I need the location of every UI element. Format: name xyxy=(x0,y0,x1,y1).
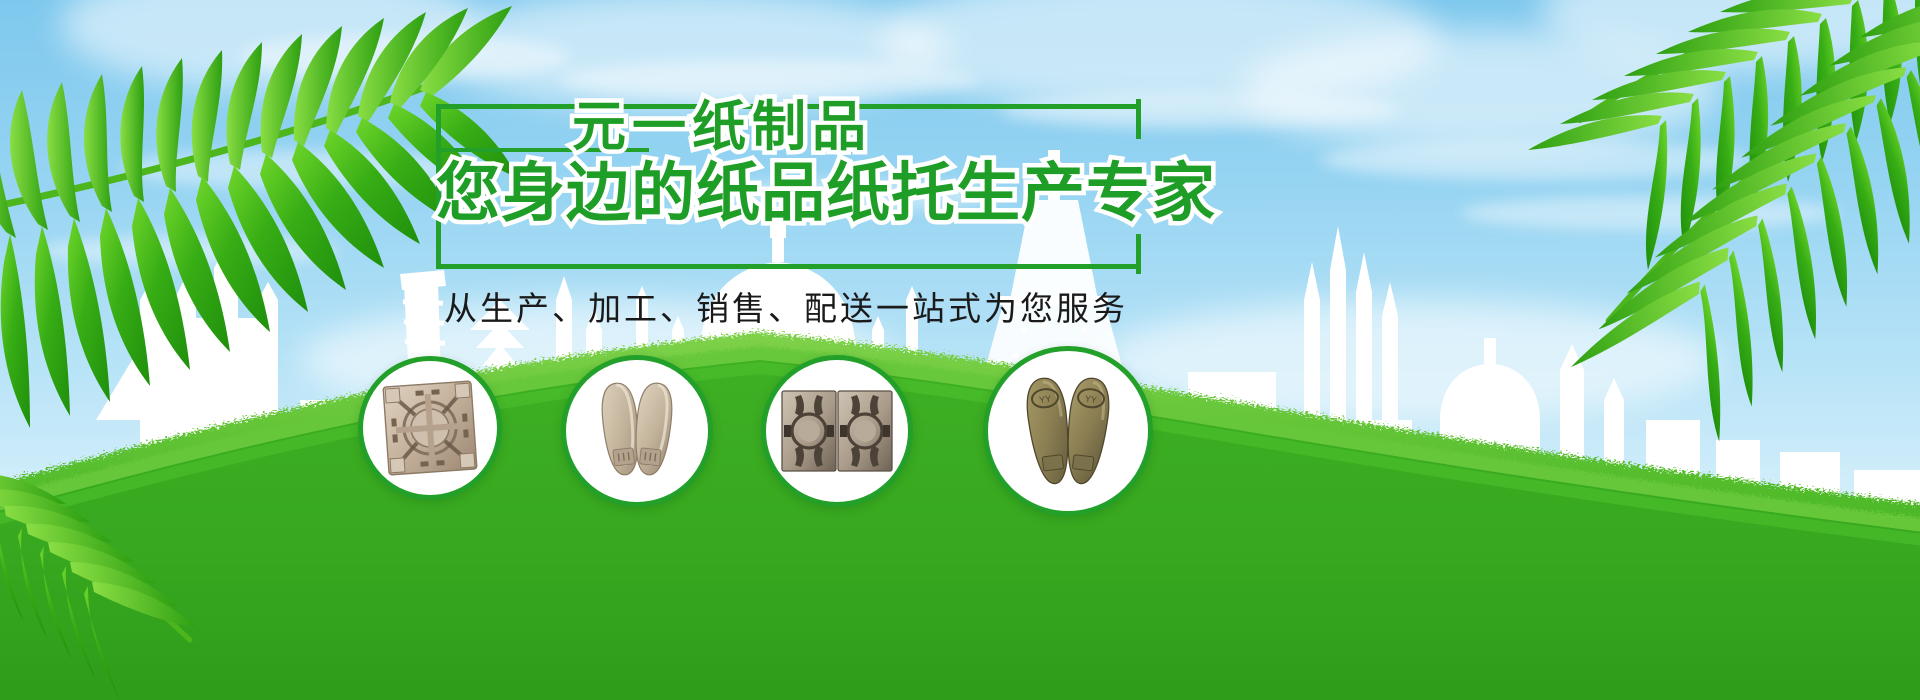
green-hill xyxy=(0,280,1920,700)
molded-pulp-dual-cavity-tray-icon xyxy=(779,385,895,477)
svg-text:YY: YY xyxy=(1039,394,1052,405)
product-circle-4[interactable]: YY YY xyxy=(983,346,1153,516)
product-circle-1[interactable] xyxy=(358,356,502,500)
molded-pulp-shoe-insert-pair-icon xyxy=(581,375,693,487)
headline-block: 元一纸制品 您身边的纸品纸托生产专家 xyxy=(436,104,1136,269)
molded-pulp-dark-shoe-form-pair-icon: YY YY xyxy=(1005,368,1131,494)
product-circle-2[interactable] xyxy=(561,355,713,507)
promo-banner: 元一纸制品 您身边的纸品纸托生产专家 从生产、加工、销售、配送一站式为您服务 xyxy=(0,0,1920,700)
subtitle-text: 从生产、加工、销售、配送一站式为您服务 xyxy=(436,282,1136,330)
molded-pulp-square-tray-icon xyxy=(378,376,482,480)
bracket-corner-top-right xyxy=(1136,99,1141,139)
product-circle-3[interactable] xyxy=(761,355,913,507)
svg-text:YY: YY xyxy=(1084,394,1097,405)
headline-line-2: 您身边的纸品纸托生产专家 xyxy=(436,142,1136,234)
bracket-corner-bottom-right xyxy=(1136,234,1141,274)
